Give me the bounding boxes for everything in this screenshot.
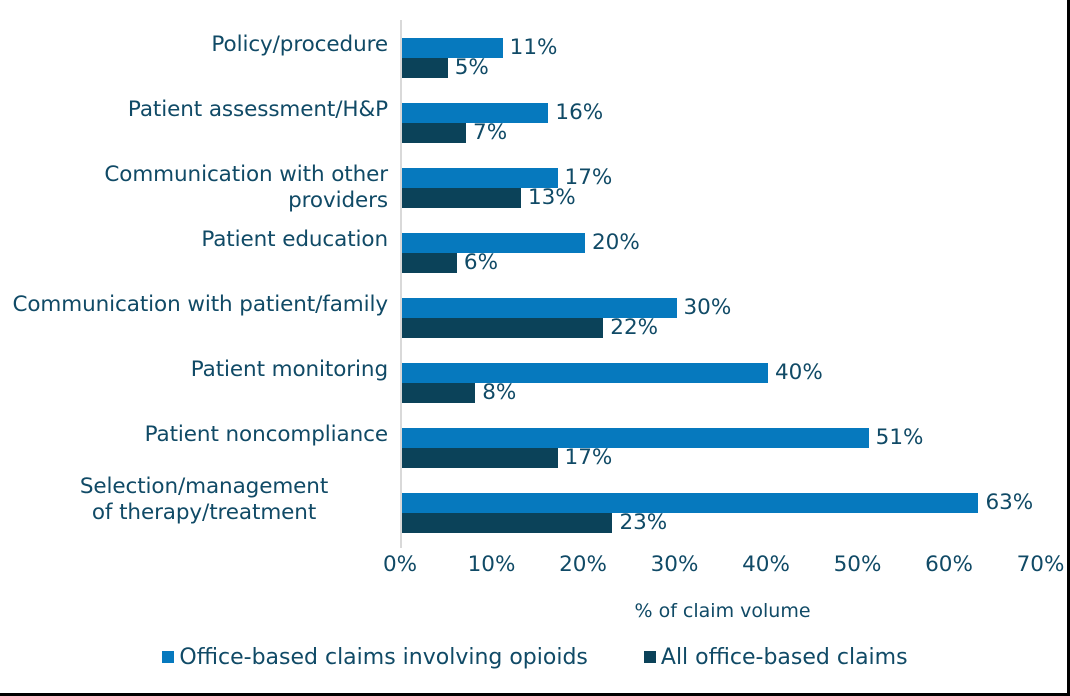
category-row: Patient assessment/H&P16%7% xyxy=(0,90,1070,155)
bar xyxy=(402,513,612,533)
bar-row: 6% xyxy=(402,253,640,273)
category-row: Selection/managementof therapy/treatment… xyxy=(0,480,1070,545)
bar xyxy=(402,428,869,448)
category-row: Policy/procedure11%5% xyxy=(0,25,1070,90)
bar-group: 16%7% xyxy=(402,103,603,143)
bar-value-label: 63% xyxy=(978,493,1033,513)
bar xyxy=(402,448,558,468)
category-row: Communication with patient/family30%22% xyxy=(0,285,1070,350)
category-label-line: Patient monitoring xyxy=(0,357,388,383)
category-label: Patient education xyxy=(0,227,388,253)
category-label: Communication with patient/family xyxy=(0,292,388,318)
bar-value-label: 22% xyxy=(603,318,658,338)
bar-row: 30% xyxy=(402,298,731,318)
bar-group: 30%22% xyxy=(402,298,731,338)
category-label-line: Policy/procedure xyxy=(0,32,388,58)
bar xyxy=(402,318,603,338)
bar xyxy=(402,383,475,403)
bar-value-label: 6% xyxy=(457,253,498,273)
category-row: Patient monitoring40%8% xyxy=(0,350,1070,415)
legend-label: All office-based claims xyxy=(661,645,908,670)
category-label: Patient monitoring xyxy=(0,357,388,383)
legend-swatch-icon xyxy=(162,651,174,663)
bar-group: 11%5% xyxy=(402,38,557,78)
x-axis-tick-label: 50% xyxy=(813,552,903,577)
legend-label: Office-based claims involving opioids xyxy=(179,645,587,670)
bar xyxy=(402,58,448,78)
category-row: Patient education20%6% xyxy=(0,220,1070,285)
category-label-line: Communication with patient/family xyxy=(0,292,388,318)
legend-item[interactable]: All office-based claims xyxy=(644,645,908,670)
bar-value-label: 40% xyxy=(768,363,823,383)
category-label-line: Communication with other providers xyxy=(0,162,388,214)
x-axis-tick-label: 20% xyxy=(538,552,628,577)
category-label: Policy/procedure xyxy=(0,32,388,58)
bar xyxy=(402,253,457,273)
bar-group: 51%17% xyxy=(402,428,923,468)
bar-group: 17%13% xyxy=(402,168,612,208)
bar-group: 63%23% xyxy=(402,493,1033,533)
bar-chart: Policy/procedure11%5%Patient assessment/… xyxy=(0,0,1070,696)
bar-row: 23% xyxy=(402,513,1033,533)
category-label-line: Selection/management xyxy=(20,474,388,500)
bar xyxy=(402,123,466,143)
bar-group: 20%6% xyxy=(402,233,640,273)
bar-value-label: 51% xyxy=(869,428,924,448)
category-label: Patient assessment/H&P xyxy=(0,97,388,123)
bar-value-label: 17% xyxy=(558,448,613,468)
x-axis-tick-label: 70% xyxy=(996,552,1070,577)
category-label: Communication with other providers xyxy=(0,162,388,214)
bar-row: 7% xyxy=(402,123,603,143)
x-axis-title: % of claim volume xyxy=(400,600,1045,622)
category-row: Patient noncompliance51%17% xyxy=(0,415,1070,480)
plot-area: Policy/procedure11%5%Patient assessment/… xyxy=(0,0,1070,560)
bar xyxy=(402,363,768,383)
bar-row: 40% xyxy=(402,363,823,383)
category-label: Selection/managementof therapy/treatment xyxy=(20,474,388,526)
bar-group: 40%8% xyxy=(402,363,823,403)
bar-value-label: 20% xyxy=(585,233,640,253)
bar-value-label: 7% xyxy=(466,123,507,143)
category-label-line: of therapy/treatment xyxy=(20,500,388,526)
category-label-line: Patient education xyxy=(0,227,388,253)
bar-row: 22% xyxy=(402,318,731,338)
bar xyxy=(402,493,978,513)
bar-row: 5% xyxy=(402,58,557,78)
x-axis-tick-label: 30% xyxy=(630,552,720,577)
x-axis-tick-label: 10% xyxy=(447,552,537,577)
chart-legend: Office-based claims involving opioidsAll… xyxy=(0,645,1070,670)
bar-value-label: 16% xyxy=(548,103,603,123)
x-axis-tick-label: 60% xyxy=(904,552,994,577)
bar-value-label: 8% xyxy=(475,383,516,403)
category-label: Patient noncompliance xyxy=(0,422,388,448)
bar-row: 13% xyxy=(402,188,612,208)
legend-swatch-icon xyxy=(644,651,656,663)
bar-row: 8% xyxy=(402,383,823,403)
x-axis-ticks: 0%10%20%30%40%50%60%70% xyxy=(0,552,1070,586)
bar-row: 20% xyxy=(402,233,640,253)
category-row: Communication with other providers17%13% xyxy=(0,155,1070,220)
x-axis-tick-label: 0% xyxy=(355,552,445,577)
category-label-line: Patient assessment/H&P xyxy=(0,97,388,123)
x-axis-tick-label: 40% xyxy=(721,552,811,577)
category-label-line: Patient noncompliance xyxy=(0,422,388,448)
legend-item[interactable]: Office-based claims involving opioids xyxy=(162,645,587,670)
bar-value-label: 30% xyxy=(677,298,732,318)
bar-row: 51% xyxy=(402,428,923,448)
bar-value-label: 23% xyxy=(612,513,667,533)
bar-value-label: 5% xyxy=(448,58,489,78)
bar-row: 17% xyxy=(402,168,612,188)
bar-value-label: 13% xyxy=(521,188,576,208)
bar-row: 17% xyxy=(402,448,923,468)
bar-row: 63% xyxy=(402,493,1033,513)
bar-value-label: 11% xyxy=(503,38,558,58)
bar xyxy=(402,188,521,208)
